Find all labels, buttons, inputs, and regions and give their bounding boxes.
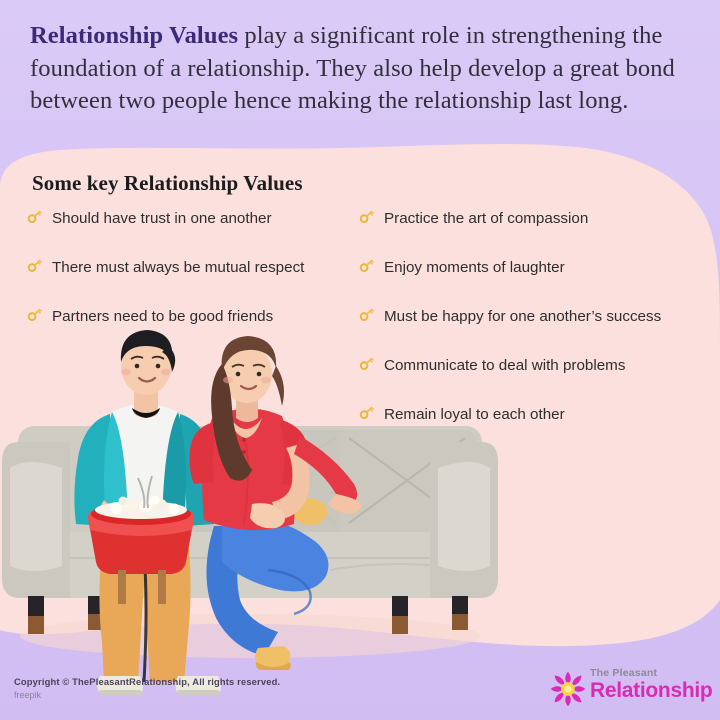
section-title: Some key Relationship Values xyxy=(32,171,303,196)
infographic-canvas: Relationship Values play a significant r… xyxy=(0,0,720,720)
brand-logo-top-line: The Pleasant xyxy=(590,668,712,679)
freepik-attribution: freepik xyxy=(14,690,41,700)
list-item: Enjoy moments of laughter xyxy=(358,256,708,277)
list-item-label: Practice the art of compassion xyxy=(384,207,588,228)
key-icon xyxy=(26,207,44,225)
couple-on-couch-illustration xyxy=(0,318,500,700)
key-icon xyxy=(358,207,376,225)
list-item: Should have trust in one another xyxy=(26,207,356,228)
key-icon xyxy=(358,256,376,274)
list-item: Practice the art of compassion xyxy=(358,207,708,228)
header-paragraph: Relationship Values play a significant r… xyxy=(30,20,690,118)
copyright-text: Copyright © ThePleasantRelationship, All… xyxy=(14,676,280,687)
list-item-label: Enjoy moments of laughter xyxy=(384,256,565,277)
key-icon xyxy=(26,256,44,274)
list-item-label: Should have trust in one another xyxy=(52,207,272,228)
brand-logo-main-line: Relationship xyxy=(590,680,712,702)
brand-logo[interactable]: The Pleasant Relationship xyxy=(548,666,708,712)
pleasant-relationship-flower-logo-icon xyxy=(548,670,588,708)
list-item: There must always be mutual respect xyxy=(26,256,356,277)
header-bold-lead: Relationship Values xyxy=(30,22,238,49)
brand-logo-text: The Pleasant Relationship xyxy=(590,668,712,702)
list-item-label: There must always be mutual respect xyxy=(52,256,304,277)
